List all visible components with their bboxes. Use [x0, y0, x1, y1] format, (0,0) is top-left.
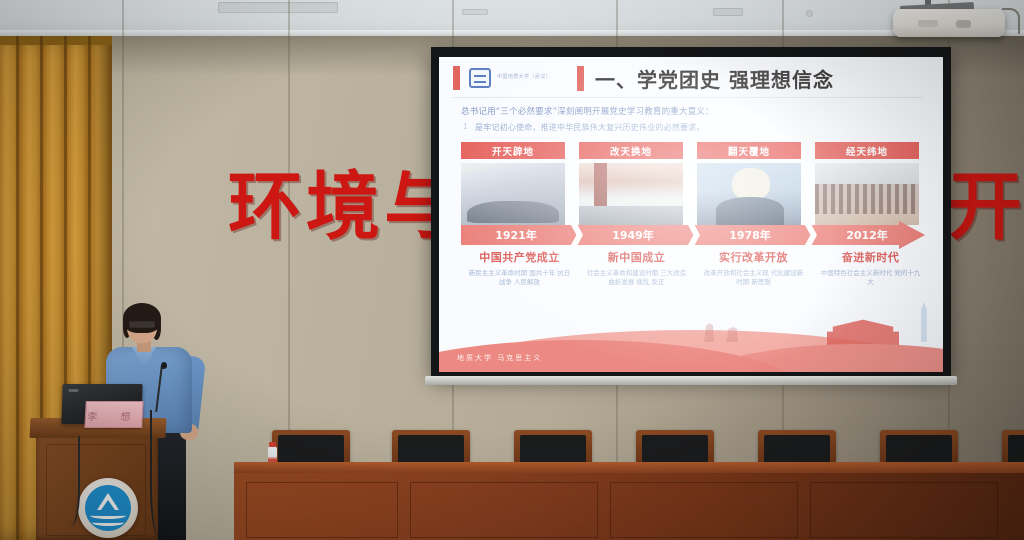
- chair-back: [398, 435, 464, 464]
- timeline-note: 改革开放和社会主义现 代化建设新时期 新思想: [695, 269, 812, 288]
- timeline-event: 实行改革开放: [695, 249, 812, 265]
- ceiling-vent-light-1: [462, 9, 488, 15]
- header-divider: [453, 97, 923, 98]
- projector-lens-icon: [956, 20, 971, 28]
- projector-vent: [918, 20, 938, 27]
- podium-nameplate: 李 想: [84, 401, 143, 428]
- era-panel: 改天换地: [579, 142, 683, 225]
- chair-back: [278, 435, 344, 464]
- timeline-year: 2012年: [812, 225, 922, 245]
- presentation-slide: 中国地质大学（武汉） 一、学党团史 强理想信念 总书记用“三个必然要求”深刻阐明…: [439, 57, 943, 372]
- emblem-mountain-inner-icon: [101, 500, 115, 510]
- timeline-note: 社会主义革命和建设时期 三大改造 曲折发展 拨乱 反正: [578, 269, 695, 288]
- chair-back: [1008, 435, 1024, 464]
- timeline-event: 奋进新时代: [812, 249, 929, 265]
- era-panel-label: 开天辟地: [461, 142, 565, 159]
- wall-banner-right: 开学: [948, 159, 1024, 255]
- slide-title: 一、学党团史 强理想信念: [595, 64, 834, 93]
- slide-footer-text: 地质大学 马克思主义: [457, 353, 542, 363]
- lecture-hall-scene: 环境与土 开学 中国地质大学（武汉） 一、学党团史 强理想信念 总书记用“三个必…: [0, 0, 1024, 540]
- emblem-wave-icon: [90, 512, 126, 519]
- conference-table-edge: [234, 462, 1024, 473]
- timeline-year: 1921年: [461, 225, 571, 245]
- water-bottle-cap: [269, 442, 276, 447]
- table-panel: [810, 482, 998, 538]
- emblem-wave-icon: [92, 519, 124, 526]
- chair-back: [886, 435, 952, 464]
- era-panel: 翻天覆地: [697, 142, 801, 225]
- podium-nameplate-text: 李 想: [86, 408, 143, 423]
- timeline-year: 1978年: [695, 225, 805, 245]
- timeline-column: 实行改革开放 改革开放和社会主义现 代化建设新时期 新思想: [695, 249, 812, 288]
- header-accent-bar-icon: [453, 66, 460, 90]
- chair-back: [764, 435, 830, 464]
- slide-lead-text: 总书记用“三个必然要求”深刻阐明开展党史学习教育的重大意义：: [461, 105, 714, 117]
- bullet-number: 1: [463, 122, 467, 131]
- slide-wave-decoration: 地质大学 马克思主义: [439, 302, 943, 372]
- era-panel-label: 翻天覆地: [697, 142, 801, 159]
- era-panel: 经天纬地: [815, 142, 919, 225]
- screen-bottom-bar: [425, 376, 957, 385]
- timeline-arrow: 1921年 1949年 1978年 2012年: [461, 225, 931, 245]
- university-name: 中国地质大学（武汉）: [497, 74, 551, 82]
- table-panel: [610, 482, 798, 538]
- institution-emblem: [78, 478, 138, 538]
- emblem-disc-icon: [85, 485, 131, 531]
- chair: [392, 430, 470, 464]
- chair: [514, 430, 592, 464]
- era-panel-label: 改天换地: [579, 142, 683, 159]
- title-accent-bar-icon: [577, 66, 584, 91]
- curtain-fold: [16, 36, 19, 540]
- era-panel-label: 经天纬地: [815, 142, 919, 159]
- table-panel: [410, 482, 598, 538]
- timeline-detail-group: 中国共产党成立 新民主主义革命时期 国共十年 抗日战争 人民解放 新中国成立 社…: [461, 249, 931, 288]
- slide-header: 中国地质大学（武汉） 一、学党团史 强理想信念: [439, 61, 943, 95]
- ceiling-sprinkler: [806, 10, 813, 17]
- table-panel: [246, 482, 398, 538]
- era-panel: 开天辟地: [461, 142, 565, 225]
- timeline-column: 奋进新时代 中国特色社会主义新时代 党的十九大: [812, 249, 929, 288]
- nanhu-red-boat-photo: [461, 163, 565, 225]
- deng-xiaoping-portrait: [697, 163, 801, 225]
- chair: [1002, 430, 1024, 464]
- military-parade-photo: [815, 163, 919, 225]
- speaker-glasses-icon: [129, 321, 155, 328]
- projection-screen: 中国地质大学（武汉） 一、学党团史 强理想信念 总书记用“三个必然要求”深刻阐明…: [431, 47, 951, 377]
- university-logo-icon: [469, 68, 491, 88]
- microphone-head-icon: [161, 362, 167, 369]
- chair: [758, 430, 836, 464]
- tiananmen-silhouette: [827, 316, 899, 346]
- speaker-hair-top: [123, 303, 161, 333]
- chair: [880, 430, 958, 464]
- timeline-note: 新民主主义革命时期 国共十年 抗日战争 人民解放: [461, 269, 578, 288]
- timeline-event: 新中国成立: [578, 249, 695, 265]
- laptop-logo-icon: [68, 389, 78, 392]
- ceiling-vent-light-2: [713, 8, 743, 16]
- chair-row: [240, 430, 1024, 466]
- projector-cable: [1002, 8, 1020, 34]
- chair: [636, 430, 714, 464]
- microphone-cable: [150, 410, 174, 538]
- timeline-column: 新中国成立 社会主义革命和建设时期 三大改造 曲折发展 拨乱 反正: [578, 249, 695, 288]
- timeline-event: 中国共产党成立: [461, 249, 578, 265]
- ceiling-duct: [218, 2, 338, 13]
- chair-back: [642, 435, 708, 464]
- ceiling-projector: [893, 9, 1005, 37]
- timeline-year: 1949年: [578, 225, 688, 245]
- timeline-note: 中国特色社会主义新时代 党的十九大: [812, 269, 929, 288]
- era-panel-group: 开天辟地 改天换地 翻天覆地 经天纬地: [461, 142, 923, 225]
- chair: [272, 430, 350, 464]
- pagoda-silhouette: [917, 302, 931, 342]
- power-cable: [54, 436, 80, 528]
- slide-bullet-text: 是牢记初心使命，推进中华民族伟大复兴历史伟业的必然要求。: [475, 122, 705, 133]
- timeline-column: 中国共产党成立 新民主主义革命时期 国共十年 抗日战争 人民解放: [461, 249, 578, 288]
- chair-back: [520, 435, 586, 464]
- founding-ceremony-photo: [579, 163, 683, 225]
